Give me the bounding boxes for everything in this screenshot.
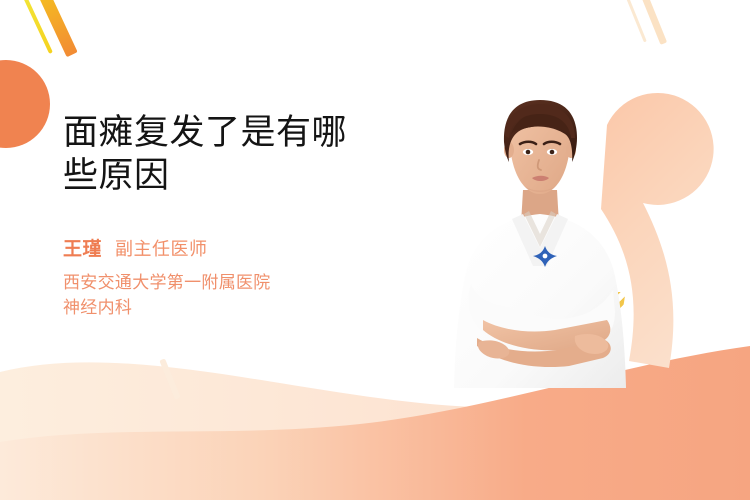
- department-name: 神经内科: [63, 296, 423, 321]
- doctor-professional-title: 副主任医师: [115, 235, 208, 261]
- accent-stroke-yellow-icon: [23, 0, 53, 54]
- accent-stroke-cream-b-icon: [636, 0, 667, 45]
- doctor-portrait: [425, 98, 655, 388]
- accent-stroke-orange-icon: [36, 0, 77, 57]
- page-title: 面瘫复发了是有哪 些原因: [63, 112, 423, 197]
- hospital-name: 西安交通大学第一附属医院: [63, 271, 423, 296]
- accent-stroke-cream-c-icon: [159, 358, 180, 399]
- pupil-left: [526, 150, 531, 155]
- orange-circle-decoration: [0, 60, 50, 148]
- doctor-name: 王瑾: [63, 234, 102, 261]
- doctor-affiliation: 西安交通大学第一附属医院 神经内科: [63, 271, 423, 320]
- portrait-body: [454, 100, 626, 388]
- pupil-right: [550, 150, 555, 155]
- video-cover-card: 面瘫复发了是有哪 些原因 王瑾 副主任医师 西安交通大学第一附属医院 神经内科: [0, 0, 750, 500]
- doctor-byline: 王瑾 副主任医师: [63, 234, 423, 261]
- text-content-block: 面瘫复发了是有哪 些原因 王瑾 副主任医师 西安交通大学第一附属医院 神经内科: [63, 112, 423, 321]
- accent-stroke-cream-a-icon: [622, 0, 647, 42]
